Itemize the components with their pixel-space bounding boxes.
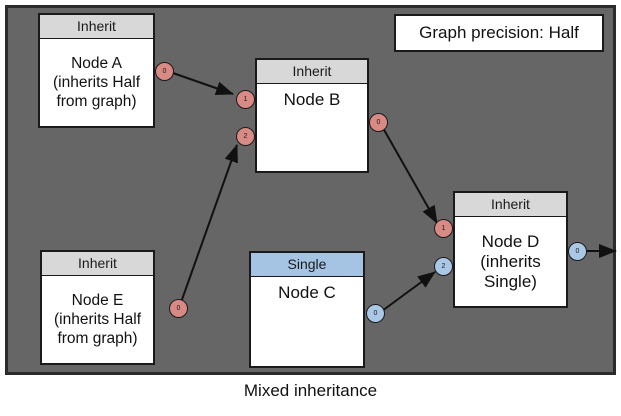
graph-precision-legend: Graph precision: Half bbox=[394, 14, 604, 52]
node-b-port-1-label: 1 bbox=[244, 96, 248, 103]
node-e-body: Node E (inherits Half from graph) bbox=[42, 276, 153, 363]
node-c-header: Single bbox=[251, 253, 363, 277]
node-c-port-0[interactable]: 0 bbox=[366, 304, 385, 323]
node-d-port-0[interactable]: 0 bbox=[568, 242, 587, 261]
node-b-port-0-label: 0 bbox=[377, 119, 381, 126]
diagram-caption-text: Mixed inheritance bbox=[244, 381, 377, 400]
node-e-port-0[interactable]: 0 bbox=[169, 299, 188, 318]
node-b-port-2[interactable]: 2 bbox=[236, 127, 255, 146]
node-d-header: Inherit bbox=[455, 193, 566, 217]
node-a-header: Inherit bbox=[40, 15, 153, 39]
node-a-port-0-label: 0 bbox=[163, 68, 167, 75]
edge-a-to-b bbox=[170, 72, 233, 94]
graph-precision-label: Graph precision: Half bbox=[419, 23, 579, 43]
node-e-port-0-label: 0 bbox=[177, 305, 181, 312]
diagram-caption: Mixed inheritance bbox=[0, 381, 621, 401]
node-d-port-2[interactable]: 2 bbox=[434, 257, 453, 276]
node-d-port-2-label: 2 bbox=[442, 263, 446, 270]
diagram-root: Inherit Node A (inherits Half from graph… bbox=[0, 0, 621, 416]
node-a[interactable]: Inherit Node A (inherits Half from graph… bbox=[38, 13, 155, 128]
node-b-port-0[interactable]: 0 bbox=[369, 113, 388, 132]
node-a-body: Node A (inherits Half from graph) bbox=[40, 39, 153, 126]
node-b-port-2-label: 2 bbox=[244, 133, 248, 140]
node-b[interactable]: Inherit Node B bbox=[255, 58, 369, 173]
node-e-header: Inherit bbox=[42, 252, 153, 276]
node-c-port-0-label: 0 bbox=[374, 310, 378, 317]
edge-c-to-d bbox=[382, 272, 435, 311]
node-b-body: Node B bbox=[257, 84, 367, 171]
node-d[interactable]: Inherit Node D (inherits Single) bbox=[453, 191, 568, 308]
edge-b-to-d bbox=[383, 128, 437, 223]
graph-canvas: Inherit Node A (inherits Half from graph… bbox=[5, 5, 616, 375]
node-e[interactable]: Inherit Node E (inherits Half from graph… bbox=[40, 250, 155, 365]
node-d-port-1[interactable]: 1 bbox=[434, 219, 453, 238]
node-c[interactable]: Single Node C bbox=[249, 251, 365, 368]
node-d-body: Node D (inherits Single) bbox=[455, 217, 566, 306]
node-a-port-0[interactable]: 0 bbox=[155, 62, 174, 81]
node-c-body: Node C bbox=[251, 277, 363, 366]
node-b-port-1[interactable]: 1 bbox=[236, 90, 255, 109]
node-b-header: Inherit bbox=[257, 60, 367, 84]
node-d-port-0-label: 0 bbox=[576, 248, 580, 255]
node-d-port-1-label: 1 bbox=[442, 225, 446, 232]
edge-e-to-b bbox=[179, 145, 237, 308]
